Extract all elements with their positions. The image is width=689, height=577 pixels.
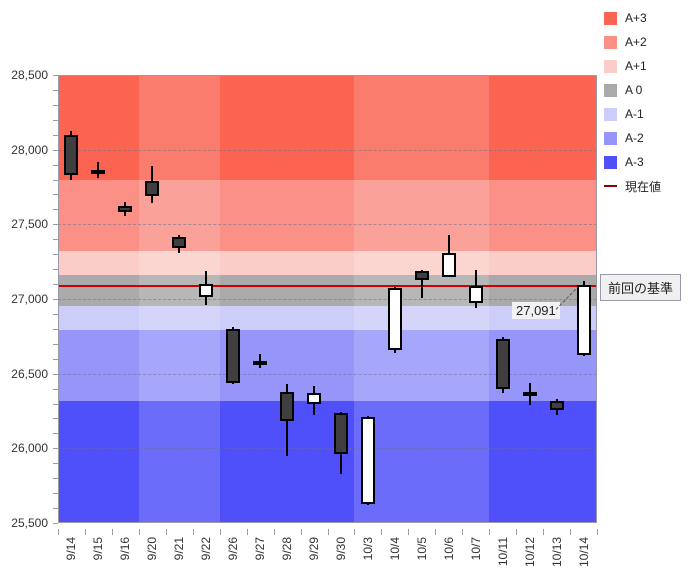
x-tick xyxy=(247,529,248,535)
legend-label: A-1 xyxy=(625,107,644,121)
candle-body xyxy=(388,288,402,350)
y-minor-tick xyxy=(53,165,58,166)
y-minor-tick xyxy=(53,150,58,151)
y-minor-tick xyxy=(53,239,58,240)
candle-body xyxy=(334,413,348,453)
candle-9-14[interactable] xyxy=(64,75,78,523)
legend-swatch-icon xyxy=(604,12,617,25)
legend-swatch-icon xyxy=(604,60,617,73)
legend-item-a-1[interactable]: A-1 xyxy=(604,102,689,126)
y-minor-tick xyxy=(53,194,58,195)
x-tick xyxy=(489,529,490,535)
y-minor-tick xyxy=(53,120,58,121)
x-tick xyxy=(354,529,355,535)
x-tick xyxy=(435,529,436,535)
x-tick-label: 9/15 xyxy=(91,537,105,560)
gridline xyxy=(58,150,597,151)
x-tick-label: 10/13 xyxy=(550,537,564,567)
x-tick-label: 10/7 xyxy=(469,537,483,560)
candle-body xyxy=(91,170,105,174)
legend-swatch-icon xyxy=(604,36,617,49)
candle-9-27[interactable] xyxy=(253,75,267,523)
legend-item-a3[interactable]: A+3 xyxy=(604,6,689,30)
x-tick xyxy=(274,529,275,535)
y-minor-tick xyxy=(53,314,58,315)
x-tick-label: 9/30 xyxy=(334,537,348,560)
y-minor-tick xyxy=(53,478,58,479)
candle-10-7[interactable] xyxy=(469,75,483,523)
legend-label: A-2 xyxy=(625,131,644,145)
x-tick-label: 10/11 xyxy=(496,537,510,566)
gridline xyxy=(58,299,597,300)
y-tick-label: 28,000 xyxy=(11,143,48,157)
x-axis: 9/149/159/169/209/219/229/269/279/289/29… xyxy=(58,529,597,577)
candle-9-16[interactable] xyxy=(118,75,132,523)
y-minor-tick xyxy=(53,75,58,76)
candle-body xyxy=(496,339,510,389)
legend-label: A-3 xyxy=(625,155,644,169)
x-tick xyxy=(58,529,59,535)
gridline xyxy=(58,224,597,225)
candle-10-11[interactable] xyxy=(496,75,510,523)
candle-body xyxy=(199,284,213,297)
y-tick-label: 26,500 xyxy=(11,367,48,381)
y-minor-tick xyxy=(53,344,58,345)
candle-body xyxy=(550,401,564,411)
legend-label: A+2 xyxy=(625,35,647,49)
y-minor-tick xyxy=(53,254,58,255)
y-tick-label: 25,500 xyxy=(11,516,48,530)
x-tick-label: 9/27 xyxy=(253,537,267,560)
x-tick-label: 9/28 xyxy=(280,537,294,560)
x-tick xyxy=(597,529,598,535)
y-minor-tick xyxy=(53,493,58,494)
candle-9-15[interactable] xyxy=(91,75,105,523)
previous-standard-callout: 前回の基準 xyxy=(600,274,681,301)
legend-item-a-3[interactable]: A-3 xyxy=(604,150,689,174)
x-tick-label: 9/29 xyxy=(307,537,321,560)
x-tick xyxy=(166,529,167,535)
legend-label: 現在値 xyxy=(625,178,661,195)
x-tick-label: 9/16 xyxy=(118,537,132,560)
x-tick xyxy=(408,529,409,535)
y-minor-tick xyxy=(53,105,58,106)
candle-body xyxy=(442,253,456,277)
y-minor-tick xyxy=(53,433,58,434)
legend-item-a1[interactable]: A+1 xyxy=(604,54,689,78)
legend-item-現在値[interactable]: 現在値 xyxy=(604,174,689,198)
y-minor-tick xyxy=(53,523,58,524)
candle-10-5[interactable] xyxy=(415,75,429,523)
x-tick xyxy=(112,529,113,535)
legend-item-a-2[interactable]: A-2 xyxy=(604,126,689,150)
candle-9-30[interactable] xyxy=(334,75,348,523)
x-tick-label: 10/12 xyxy=(523,537,537,567)
gridline xyxy=(58,448,597,449)
x-tick xyxy=(193,529,194,535)
legend-swatch-icon xyxy=(604,156,617,169)
legend-label: A+1 xyxy=(625,59,647,73)
x-tick xyxy=(328,529,329,535)
legend-label: A 0 xyxy=(625,83,642,97)
y-minor-tick xyxy=(53,180,58,181)
candle-body xyxy=(253,361,267,365)
gridline xyxy=(58,374,597,375)
candle-body xyxy=(361,417,375,504)
x-tick xyxy=(381,529,382,535)
y-minor-tick xyxy=(53,299,58,300)
x-tick xyxy=(139,529,140,535)
candle-body xyxy=(226,329,240,383)
current-value-line xyxy=(58,285,597,287)
y-minor-tick xyxy=(53,284,58,285)
y-minor-tick xyxy=(53,135,58,136)
legend-label: A+3 xyxy=(625,11,647,25)
x-tick-label: 9/20 xyxy=(145,537,159,560)
candle-10-12[interactable] xyxy=(523,75,537,523)
legend-line-icon xyxy=(604,185,617,187)
x-tick-label: 10/4 xyxy=(388,537,402,560)
y-minor-tick xyxy=(53,374,58,375)
candle-body xyxy=(415,271,429,280)
legend-swatch-icon xyxy=(604,84,617,97)
x-tick-label: 9/14 xyxy=(64,537,78,560)
y-minor-tick xyxy=(53,404,58,405)
y-tick-label: 26,000 xyxy=(11,441,48,455)
x-tick-label: 9/26 xyxy=(226,537,240,560)
y-minor-tick xyxy=(53,90,58,91)
candle-9-20[interactable] xyxy=(145,75,159,523)
current-value-tag: 27,091 xyxy=(512,302,560,319)
y-minor-tick xyxy=(53,508,58,509)
candle-body xyxy=(118,206,132,213)
y-tick-label: 28,500 xyxy=(11,68,48,82)
y-minor-tick xyxy=(53,209,58,210)
candle-body xyxy=(307,393,321,403)
candle-body xyxy=(280,392,294,422)
y-minor-tick xyxy=(53,448,58,449)
x-tick-label: 10/3 xyxy=(361,537,375,560)
x-tick-label: 9/21 xyxy=(172,537,186,560)
candle-body xyxy=(64,135,78,175)
candle-10-4[interactable] xyxy=(388,75,402,523)
candle-10-3[interactable] xyxy=(361,75,375,523)
x-tick xyxy=(516,529,517,535)
x-tick-label: 9/22 xyxy=(199,537,213,560)
legend-swatch-icon xyxy=(604,108,617,121)
candlestick-chart: 28,50028,00027,50027,00026,50026,00025,5… xyxy=(0,0,689,577)
x-tick xyxy=(301,529,302,535)
y-minor-tick xyxy=(53,389,58,390)
candle-body xyxy=(577,285,591,355)
y-minor-tick xyxy=(53,463,58,464)
y-minor-tick xyxy=(53,269,58,270)
candle-body xyxy=(469,286,483,303)
candle-body xyxy=(523,392,537,396)
x-tick xyxy=(85,529,86,535)
y-minor-tick xyxy=(53,224,58,225)
x-tick-label: 10/14 xyxy=(577,537,591,567)
candle-10-13[interactable] xyxy=(550,75,564,523)
x-tick-label: 10/5 xyxy=(415,537,429,560)
legend-swatch-icon xyxy=(604,132,617,145)
candle-body xyxy=(145,181,159,196)
candle-10-6[interactable] xyxy=(442,75,456,523)
candle-9-26[interactable] xyxy=(226,75,240,523)
x-tick xyxy=(570,529,571,535)
candle-9-21[interactable] xyxy=(172,75,186,523)
x-tick xyxy=(220,529,221,535)
x-tick xyxy=(462,529,463,535)
plot-area xyxy=(58,75,597,523)
y-minor-tick xyxy=(53,359,58,360)
legend-item-a2[interactable]: A+2 xyxy=(604,30,689,54)
candle-10-14[interactable] xyxy=(577,75,591,523)
legend-item-a0[interactable]: A 0 xyxy=(604,78,689,102)
y-axis: 28,50028,00027,50027,00026,50026,00025,5… xyxy=(0,0,58,577)
x-tick-label: 10/6 xyxy=(442,537,456,560)
y-tick-label: 27,500 xyxy=(11,217,48,231)
legend: A+3A+2A+1A 0A-1A-2A-3現在値 xyxy=(604,6,689,198)
candle-body xyxy=(172,237,186,248)
candle-9-29[interactable] xyxy=(307,75,321,523)
candle-9-22[interactable] xyxy=(199,75,213,523)
y-tick-label: 27,000 xyxy=(11,292,48,306)
y-minor-tick xyxy=(53,329,58,330)
y-minor-tick xyxy=(53,418,58,419)
candle-9-28[interactable] xyxy=(280,75,294,523)
x-tick xyxy=(543,529,544,535)
